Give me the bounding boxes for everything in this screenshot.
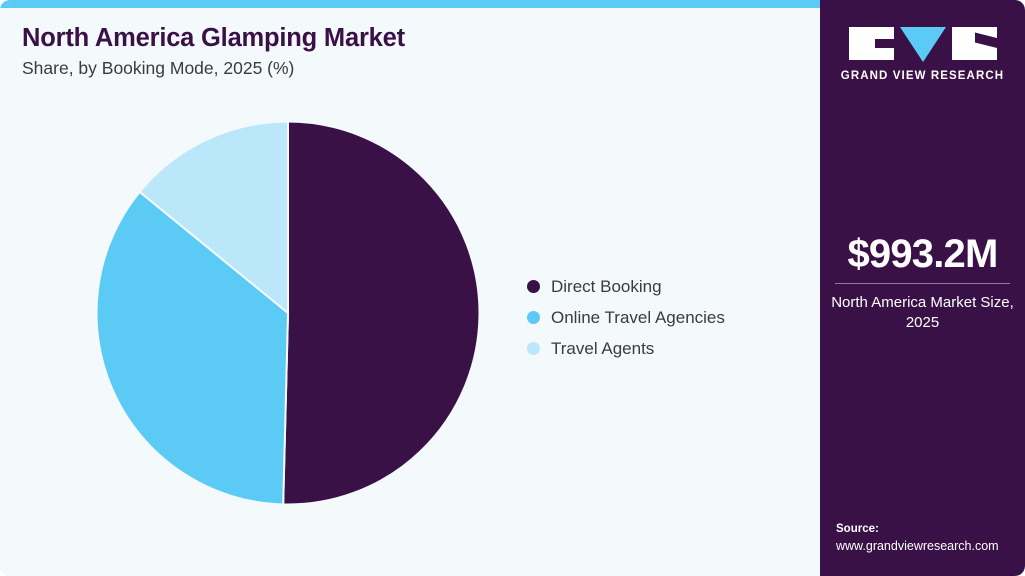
source-label: Source: (836, 521, 1025, 538)
source-block: Source: www.grandviewresearch.com (836, 521, 1025, 555)
brand-logo: GRAND VIEW RESEARCH (820, 27, 1025, 82)
chart-header: North America Glamping Market Share, by … (22, 24, 782, 79)
pie-chart-svg (96, 121, 480, 505)
legend-swatch-icon (527, 280, 540, 293)
stat-block: $993.2M North America Market Size, 2025 (820, 233, 1025, 332)
logo-letter-g-icon (849, 27, 894, 60)
infographic-card: North America Glamping Market Share, by … (0, 0, 1025, 576)
legend-item-label: Travel Agents (551, 340, 654, 357)
logo-letter-r-icon (952, 27, 997, 60)
page-title: North America Glamping Market (22, 24, 782, 52)
stat-value: $993.2M (820, 233, 1025, 275)
side-panel: GRAND VIEW RESEARCH $993.2M North Americ… (820, 0, 1025, 576)
legend-item-travel-agents[interactable]: Travel Agents (527, 333, 725, 364)
pie-chart (96, 121, 480, 505)
stat-divider (835, 283, 1010, 284)
pie-slice[interactable] (283, 122, 479, 505)
legend-item-online-travel-agencies[interactable]: Online Travel Agencies (527, 302, 725, 333)
page-subtitle: Share, by Booking Mode, 2025 (%) (22, 58, 782, 79)
legend-swatch-icon (527, 311, 540, 324)
pie-slice-group (96, 122, 479, 505)
source-url[interactable]: www.grandviewresearch.com (836, 538, 1025, 555)
legend-item-label: Online Travel Agencies (551, 309, 725, 326)
legend-swatch-icon (527, 342, 540, 355)
brand-name: GRAND VIEW RESEARCH (820, 70, 1025, 82)
legend-item-label: Direct Booking (551, 278, 662, 295)
logo-letter-v-icon (900, 27, 946, 62)
chart-legend: Direct Booking Online Travel Agencies Tr… (527, 271, 725, 364)
gvr-logo-icon (820, 27, 1025, 60)
stat-caption: North America Market Size, 2025 (820, 293, 1025, 332)
legend-item-direct-booking[interactable]: Direct Booking (527, 271, 725, 302)
